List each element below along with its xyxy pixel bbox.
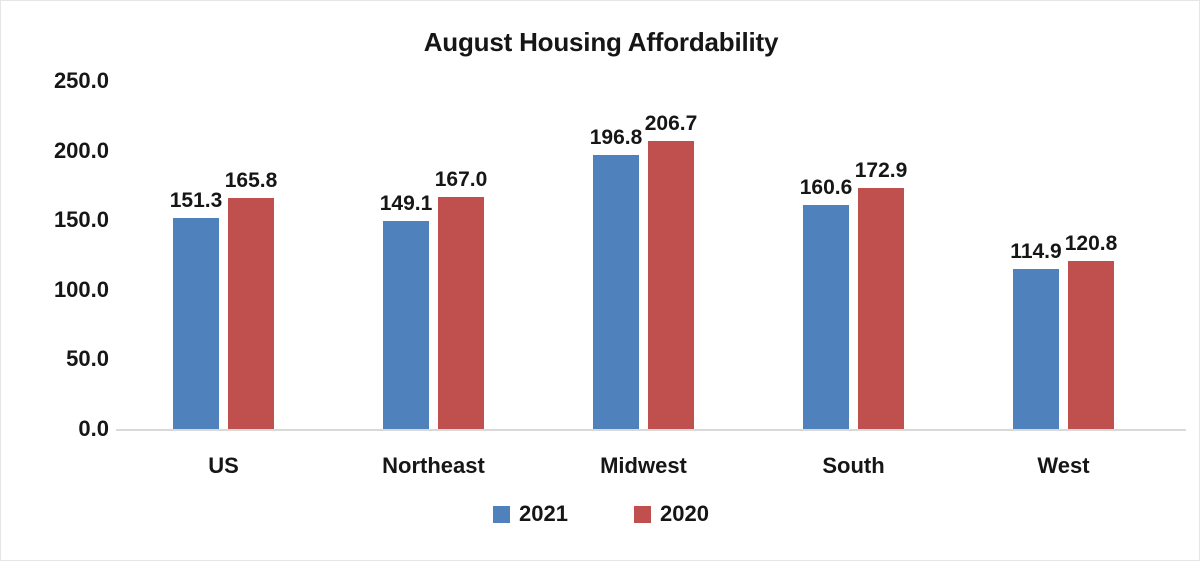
bar-rect [383,221,429,429]
bar-rect [858,188,904,429]
bar-rect [228,198,274,429]
plot-area: 151.3165.8149.1167.0196.8206.7160.6172.9… [116,81,1186,429]
chart-legend: 20212020 [1,501,1200,527]
y-axis-tick-label: 150.0 [9,207,109,233]
bar-rect [173,218,219,429]
chart-title: August Housing Affordability [1,27,1200,58]
x-axis-line [116,429,1186,431]
bar-group: 160.6172.9 [803,81,904,429]
bar-rect [803,205,849,429]
bar-rect [1068,261,1114,429]
bar-rect [648,141,694,429]
x-axis-category-label: West [964,453,1164,479]
bar-rect [438,197,484,429]
y-axis-tick-label: 100.0 [9,277,109,303]
x-axis-category-label: Northeast [334,453,534,479]
chart-container: August Housing Affordability 0.050.0100.… [0,0,1200,561]
x-axis-category-label: South [754,453,954,479]
y-axis-tick-label: 0.0 [9,416,109,442]
legend-label: 2021 [519,501,568,527]
y-axis-tick-label: 250.0 [9,68,109,94]
x-axis-category-label: US [124,453,324,479]
y-axis-tick-label: 200.0 [9,138,109,164]
x-axis-category-label: Midwest [544,453,744,479]
bar-value-label: 172.9 [826,159,936,183]
legend-item-2020[interactable]: 2020 [634,501,709,527]
legend-swatch-icon [634,506,651,523]
legend-label: 2020 [660,501,709,527]
bar-group: 196.8206.7 [593,81,694,429]
bar-group: 149.1167.0 [383,81,484,429]
bar-value-label: 167.0 [406,168,516,192]
bar-value-label: 120.8 [1036,232,1146,256]
bar-rect [593,155,639,429]
legend-swatch-icon [493,506,510,523]
bar-group: 114.9120.8 [1013,81,1114,429]
bar-group: 151.3165.8 [173,81,274,429]
bar-value-label: 165.8 [196,169,306,193]
y-axis: 0.050.0100.0150.0200.0250.0 [1,1,109,561]
y-axis-tick-label: 50.0 [9,346,109,372]
bar-value-label: 206.7 [616,112,726,136]
bar-rect [1013,269,1059,429]
legend-item-2021[interactable]: 2021 [493,501,568,527]
